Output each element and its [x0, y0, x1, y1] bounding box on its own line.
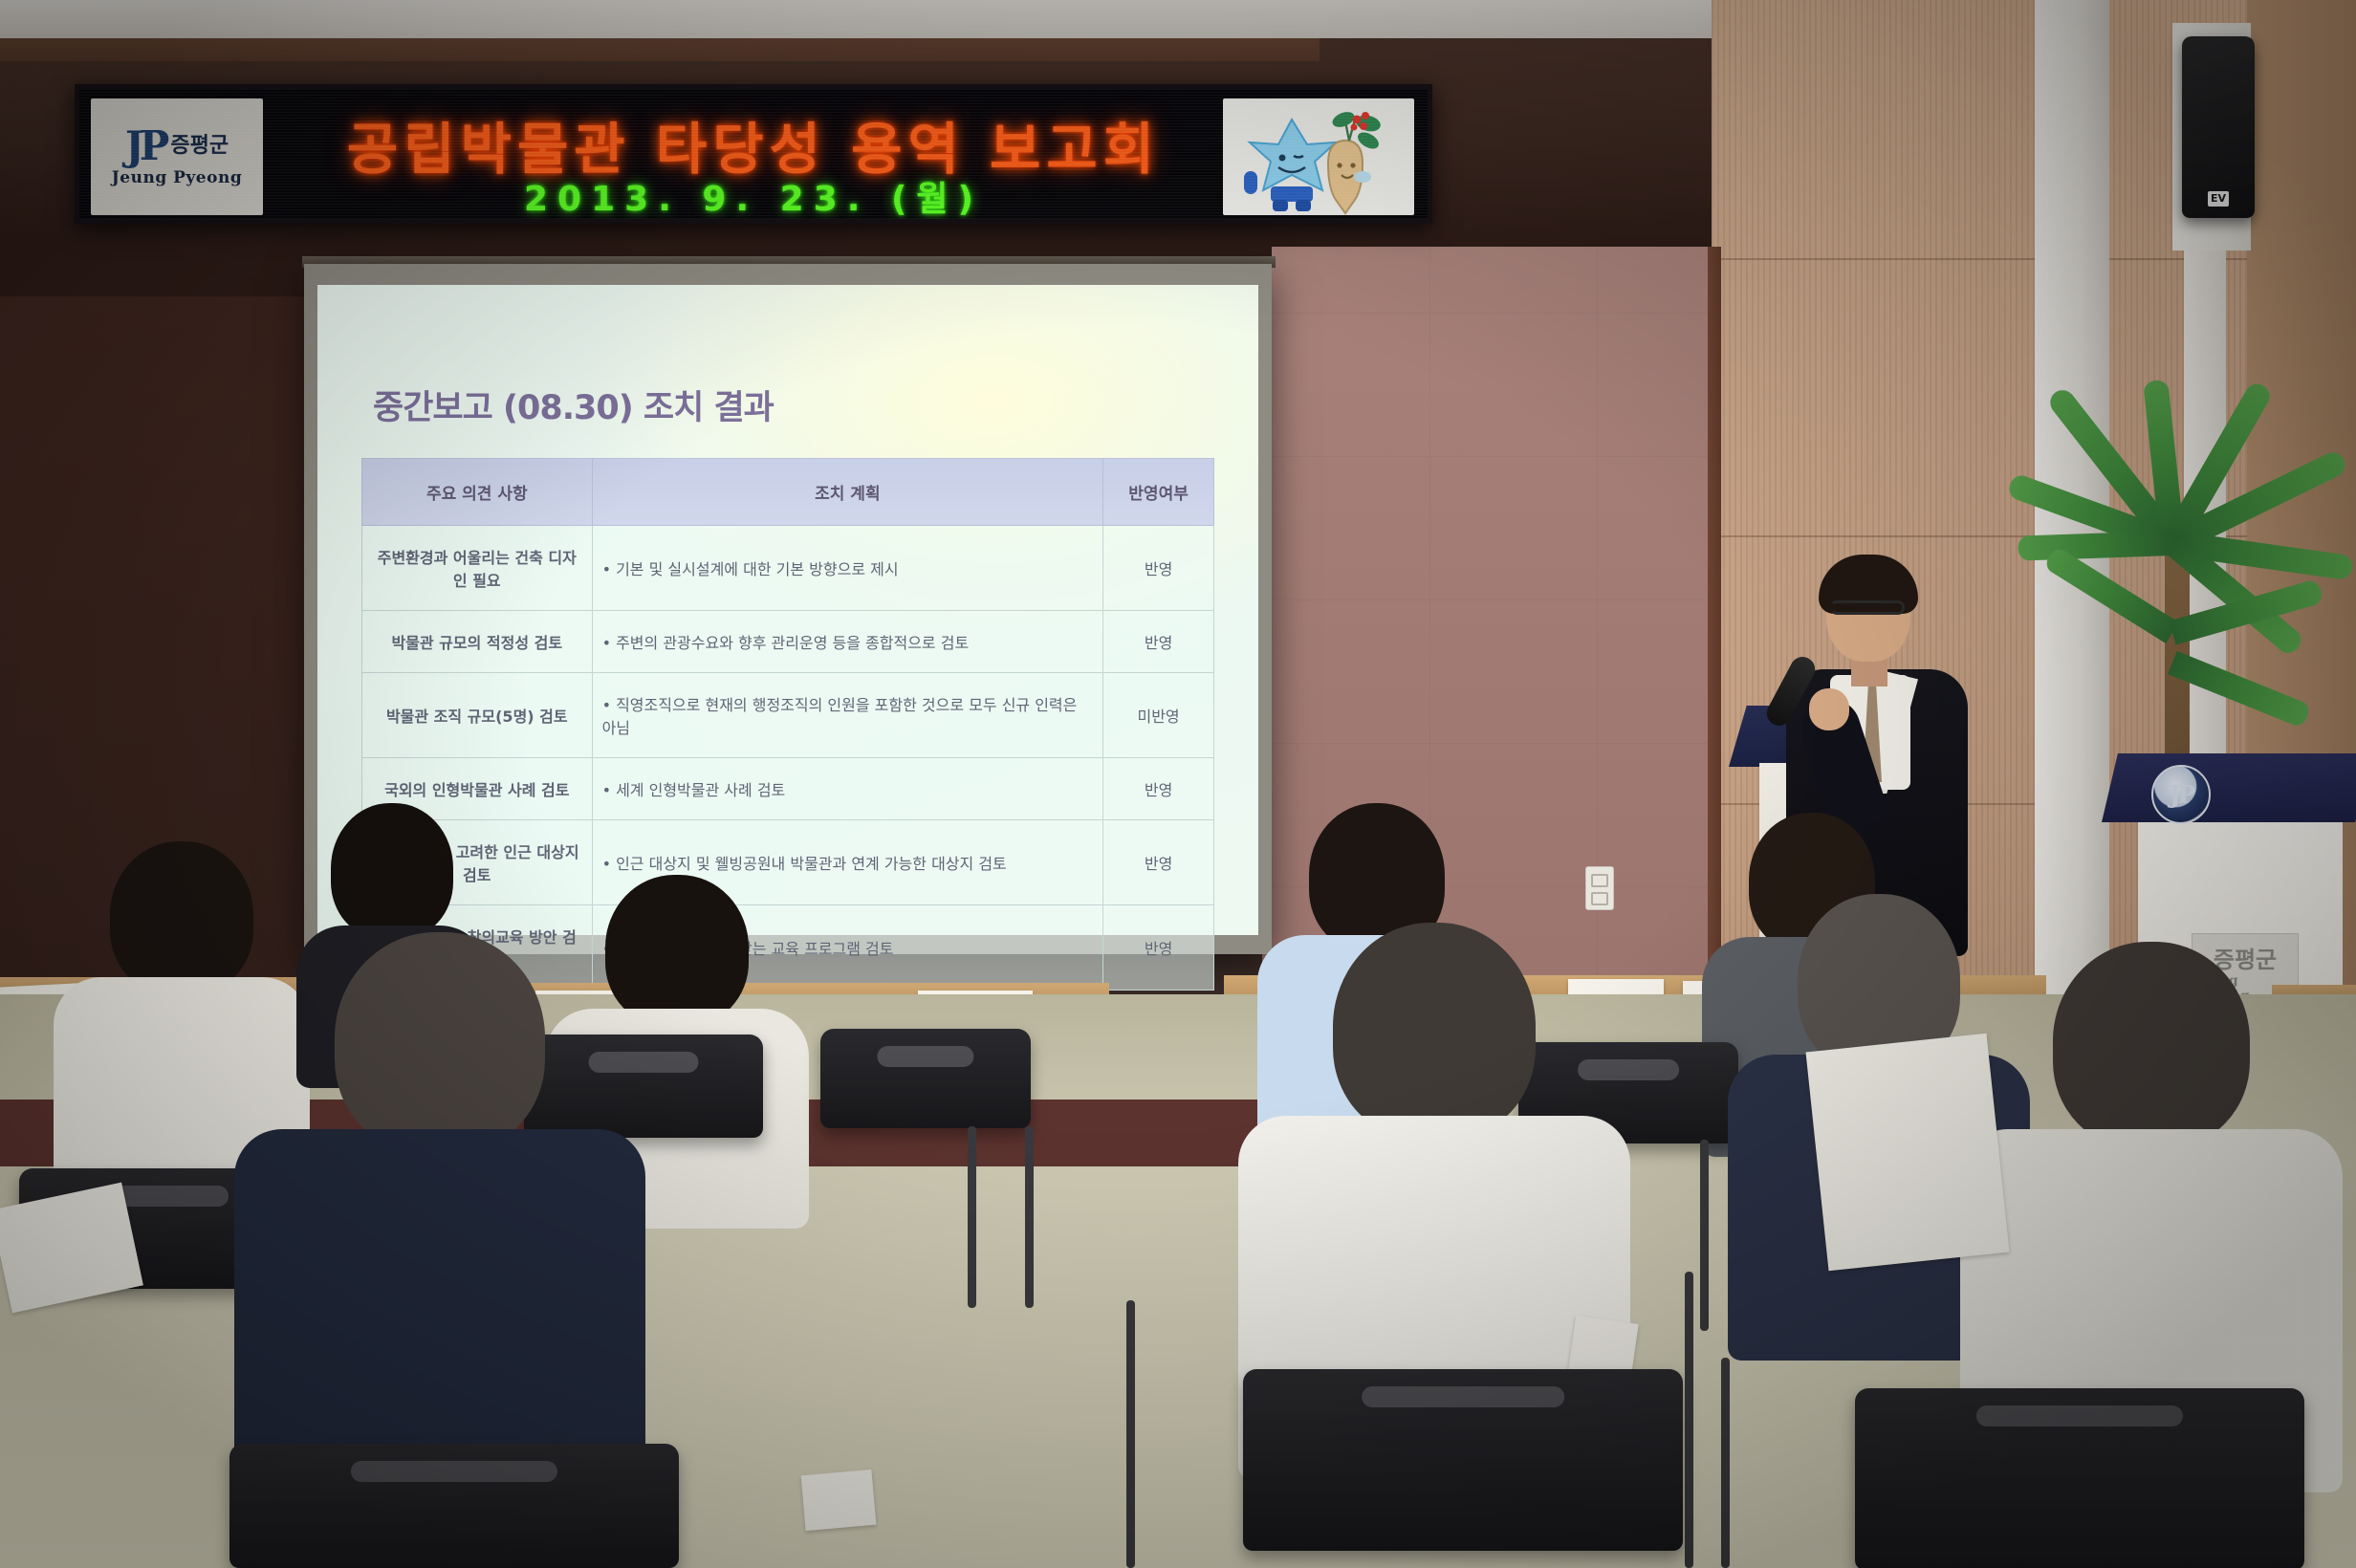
palm-plant [1991, 302, 2354, 799]
speaker-brand-label: EV [2208, 191, 2229, 207]
conference-room-photo: EV JP 증평군 Jeung Pyeong 공립박물관 타당성 용역 보고회 … [0, 0, 2356, 1568]
jeungpyeong-logo: JP 증평군 Jeung Pyeong [91, 98, 263, 215]
slide-title: 중간보고 (08.30) 조치 결과 [373, 381, 1214, 429]
cell-plan: • 기본 및 실시설계에 대한 기본 방향으로 제시 [592, 526, 1103, 611]
cell-plan: • 주변의 관광수요와 향후 관리운영 등을 종합적으로 검토 [592, 611, 1103, 673]
presenter-hand [1809, 688, 1849, 730]
led-banner: JP 증평군 Jeung Pyeong 공립박물관 타당성 용역 보고회 201… [75, 84, 1432, 224]
chair [820, 1029, 1031, 1128]
banner-date: 2013. 9. 23. (월) [275, 171, 1232, 221]
chair [1855, 1388, 2304, 1568]
cell-status: 반영 [1103, 820, 1214, 905]
cell-issue: 박물관 조직 규모(5명) 검토 [362, 673, 593, 758]
wall-speaker-icon: EV [2182, 36, 2255, 218]
person-body [234, 1129, 645, 1492]
person-head [1333, 923, 1536, 1139]
jp-emblem-icon: JP [2151, 765, 2211, 824]
chair-leg [1700, 1140, 1709, 1331]
cell-issue: 주변환경과 어울리는 건축 디자인 필요 [362, 526, 593, 611]
chair-leg [1126, 1300, 1135, 1568]
cell-plan: • 직영조직으로 현재의 행정조직의 인원을 포함한 것으로 모두 신규 인력은… [592, 673, 1103, 758]
table-row: 박물관 규모의 적정성 검토• 주변의 관광수요와 향후 관리운영 등을 종합적… [362, 611, 1214, 673]
chair-leg [1721, 1358, 1730, 1568]
person-head [335, 932, 545, 1152]
cell-status: 반영 [1103, 905, 1214, 991]
person-head [2053, 942, 2250, 1148]
podium-emblem-text: JP [2170, 781, 2193, 809]
table-row: 박물관 조직 규모(5명) 검토• 직영조직으로 현재의 행정조직의 인원을 포… [362, 673, 1214, 758]
cell-status: 반영 [1103, 611, 1214, 673]
cell-plan: • 세계 인형박물관 사례 검토 [592, 758, 1103, 820]
chair [1243, 1369, 1683, 1551]
audience-person [220, 932, 660, 1468]
col-header-plan: 조치 계획 [592, 459, 1103, 526]
handout-paper [1805, 1034, 2009, 1272]
cell-status: 미반영 [1103, 673, 1214, 758]
glasses-icon [1830, 600, 1905, 615]
cell-status: 반영 [1103, 526, 1214, 611]
power-outlet-icon [1585, 866, 1614, 910]
chair [229, 1444, 679, 1568]
podium-top-surface [2102, 753, 2356, 822]
cell-issue: 박물관 규모의 적정성 검토 [362, 611, 593, 673]
person-head [331, 803, 453, 939]
mascot-icon [1223, 98, 1414, 215]
logo-name-kr: 증평군 [170, 136, 229, 157]
chair-leg [1025, 1126, 1034, 1308]
col-header-status: 반영여부 [1103, 459, 1214, 526]
logo-jp-mark: JP [125, 126, 164, 166]
handout-paper [801, 1470, 877, 1531]
table-header-row: 주요 의견 사항 조치 계획 반영여부 [362, 459, 1214, 526]
table-row: 주변환경과 어울리는 건축 디자인 필요• 기본 및 실시설계에 대한 기본 방… [362, 526, 1214, 611]
cell-status: 반영 [1103, 758, 1214, 820]
chair-leg [1685, 1272, 1693, 1568]
chair-leg [968, 1126, 976, 1308]
col-header-issue: 주요 의견 사항 [362, 459, 593, 526]
logo-name-en: Jeung Pyeong [112, 168, 242, 187]
